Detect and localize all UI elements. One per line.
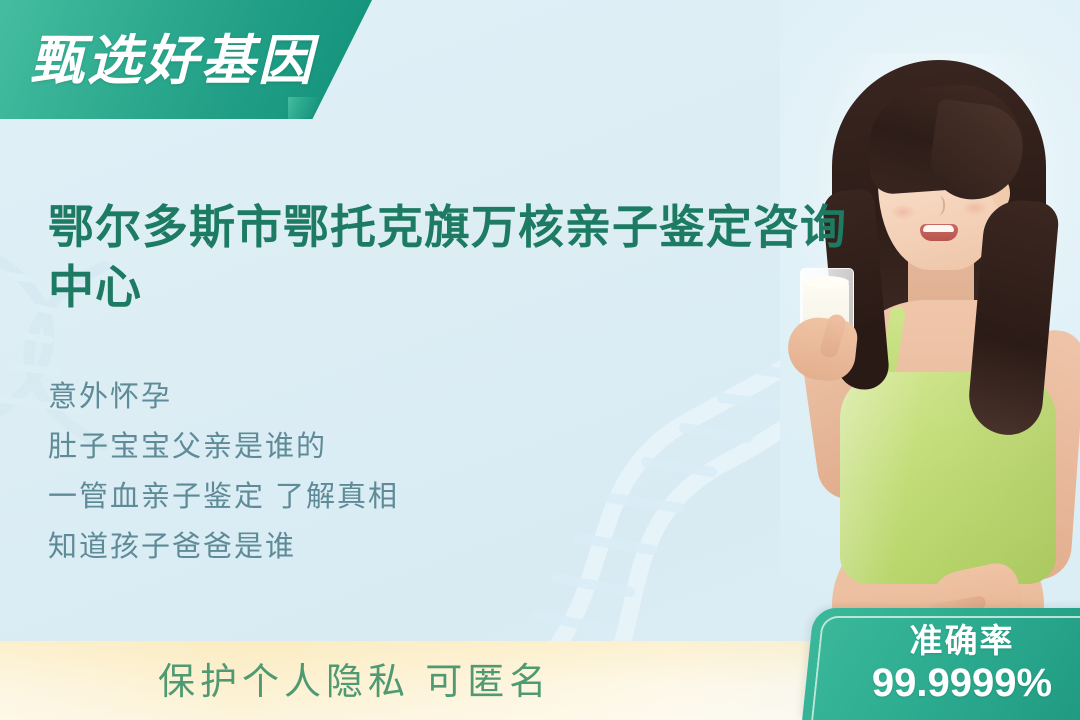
model-nose (930, 196, 945, 216)
model-cheek-left (890, 204, 916, 220)
accuracy-badge-content: 准确率 99.9999% (808, 608, 1080, 720)
model-cheek-right (962, 200, 988, 216)
model-photo (780, 0, 1080, 660)
body-copy-line: 一管血亲子鉴定 了解真相 (48, 472, 608, 522)
body-copy: 意外怀孕 肚子宝宝父亲是谁的 一管血亲子鉴定 了解真相 知道孩子爸爸是谁 (48, 372, 608, 572)
brand-logo-text: 甄选好基因 (30, 16, 315, 95)
accuracy-badge: 准确率 99.9999% (802, 608, 1080, 720)
page-title: 鄂尔多斯市鄂托克旗万核亲子鉴定咨询中心 (48, 197, 860, 317)
model-teeth (923, 225, 954, 232)
accuracy-badge-label: 准确率 (910, 622, 1015, 660)
footer-tagline: 保护个人隐私 可匿名 (158, 654, 551, 710)
accuracy-badge-value: 99.9999% (872, 660, 1052, 706)
brand-logo-ribbon: 甄选好基因 (0, 0, 372, 119)
body-copy-line: 肚子宝宝父亲是谁的 (48, 422, 608, 472)
body-copy-line: 知道孩子爸爸是谁 (48, 522, 608, 572)
promotional-banner: 甄选好基因 鄂尔多斯市鄂托克旗万核亲子鉴定咨询中心 意外怀孕 肚子宝宝父亲是谁的… (0, 0, 1080, 720)
body-copy-line: 意外怀孕 (48, 372, 608, 422)
